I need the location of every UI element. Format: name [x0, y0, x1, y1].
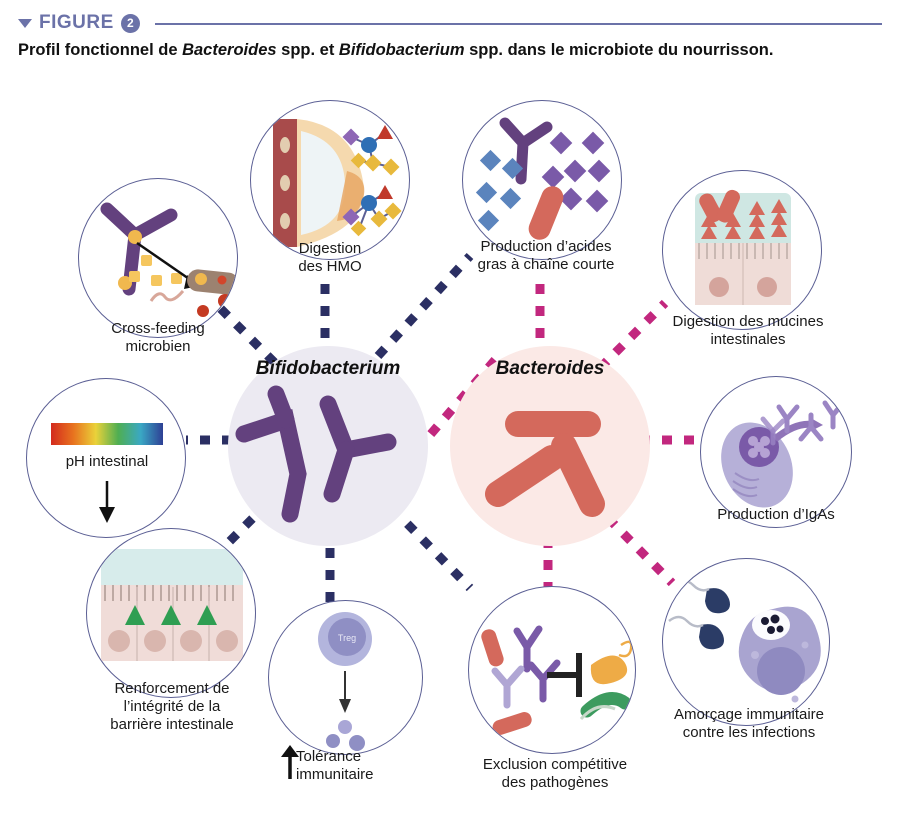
title-part-2: spp. et — [277, 41, 339, 59]
iga-production-caption: Production d’IgAs — [686, 506, 866, 524]
ph-down-arrow-icon — [27, 379, 186, 538]
barrier-integrity-caption: Renforcement de l’intégrité de la barriè… — [76, 680, 268, 734]
hmo-digestion-caption: Digestion des HMO — [240, 240, 420, 276]
figure-header: FIGURE 2 — [18, 10, 882, 36]
mucin-digestion-bubble[interactable] — [662, 170, 822, 330]
treg-cell-icon: Treg — [269, 601, 423, 755]
title-part-1: Profil fonctionnel de — [18, 41, 182, 59]
hmo-digestion-icon — [251, 101, 410, 260]
hmo-digestion-bubble[interactable] — [250, 100, 410, 260]
cross-feeding-bubble[interactable] — [78, 178, 238, 338]
hub-bifidobacterium[interactable]: Bifidobacterium — [228, 346, 428, 546]
title-part-3: spp. dans le microbiote du nourrisson. — [465, 41, 774, 59]
bifidobacterium-organism-icon — [228, 346, 428, 546]
bacteroides-organism-icon — [450, 346, 650, 546]
immune-tolerance-bubble[interactable]: Treg — [268, 600, 423, 755]
cross-feeding-icon — [79, 179, 238, 338]
title-italic-bacteroides: Bacteroides — [182, 41, 276, 59]
scfa-production-caption: Production d’acides gras à chaîne courte — [456, 238, 636, 274]
immune-priming-bubble[interactable] — [662, 558, 830, 726]
competitive-exclusion-icon — [469, 587, 636, 754]
immune-tolerance-caption: Tolérance immunitaire — [296, 748, 436, 784]
scfa-production-icon — [463, 101, 622, 260]
header-rule — [155, 23, 882, 25]
mucin-digestion-caption: Digestion des mucines intestinales — [648, 313, 848, 349]
figure-title: Profil fonctionnel de Bacteroides spp. e… — [18, 40, 818, 62]
competitive-exclusion-caption: Exclusion compétitive des pathogènes — [450, 756, 660, 792]
barrier-integrity-icon — [87, 529, 256, 698]
scfa-production-bubble[interactable] — [462, 100, 622, 260]
figure-canvas: Bifidobacterium Bacteroides — [0, 88, 900, 820]
title-italic-bifidobacterium: Bifidobacterium — [339, 41, 465, 59]
triangle-down-icon[interactable] — [18, 19, 32, 28]
barrier-integrity-bubble[interactable] — [86, 528, 256, 698]
mucin-digestion-icon — [663, 171, 822, 330]
figure-number-badge: 2 — [121, 14, 140, 33]
immune-priming-caption: Amorçage immunitaire contre les infectio… — [646, 706, 852, 742]
competitive-exclusion-bubble[interactable] — [468, 586, 636, 754]
immune-priming-icon — [663, 559, 830, 726]
hub-bacteroides[interactable]: Bacteroides — [450, 346, 650, 546]
ph-intestinal-bubble[interactable]: pH intestinal — [26, 378, 186, 538]
figure-label: FIGURE — [39, 12, 114, 34]
svg-text:Treg: Treg — [338, 633, 356, 643]
cross-feeding-caption: Cross-feeding microbien — [58, 320, 258, 356]
